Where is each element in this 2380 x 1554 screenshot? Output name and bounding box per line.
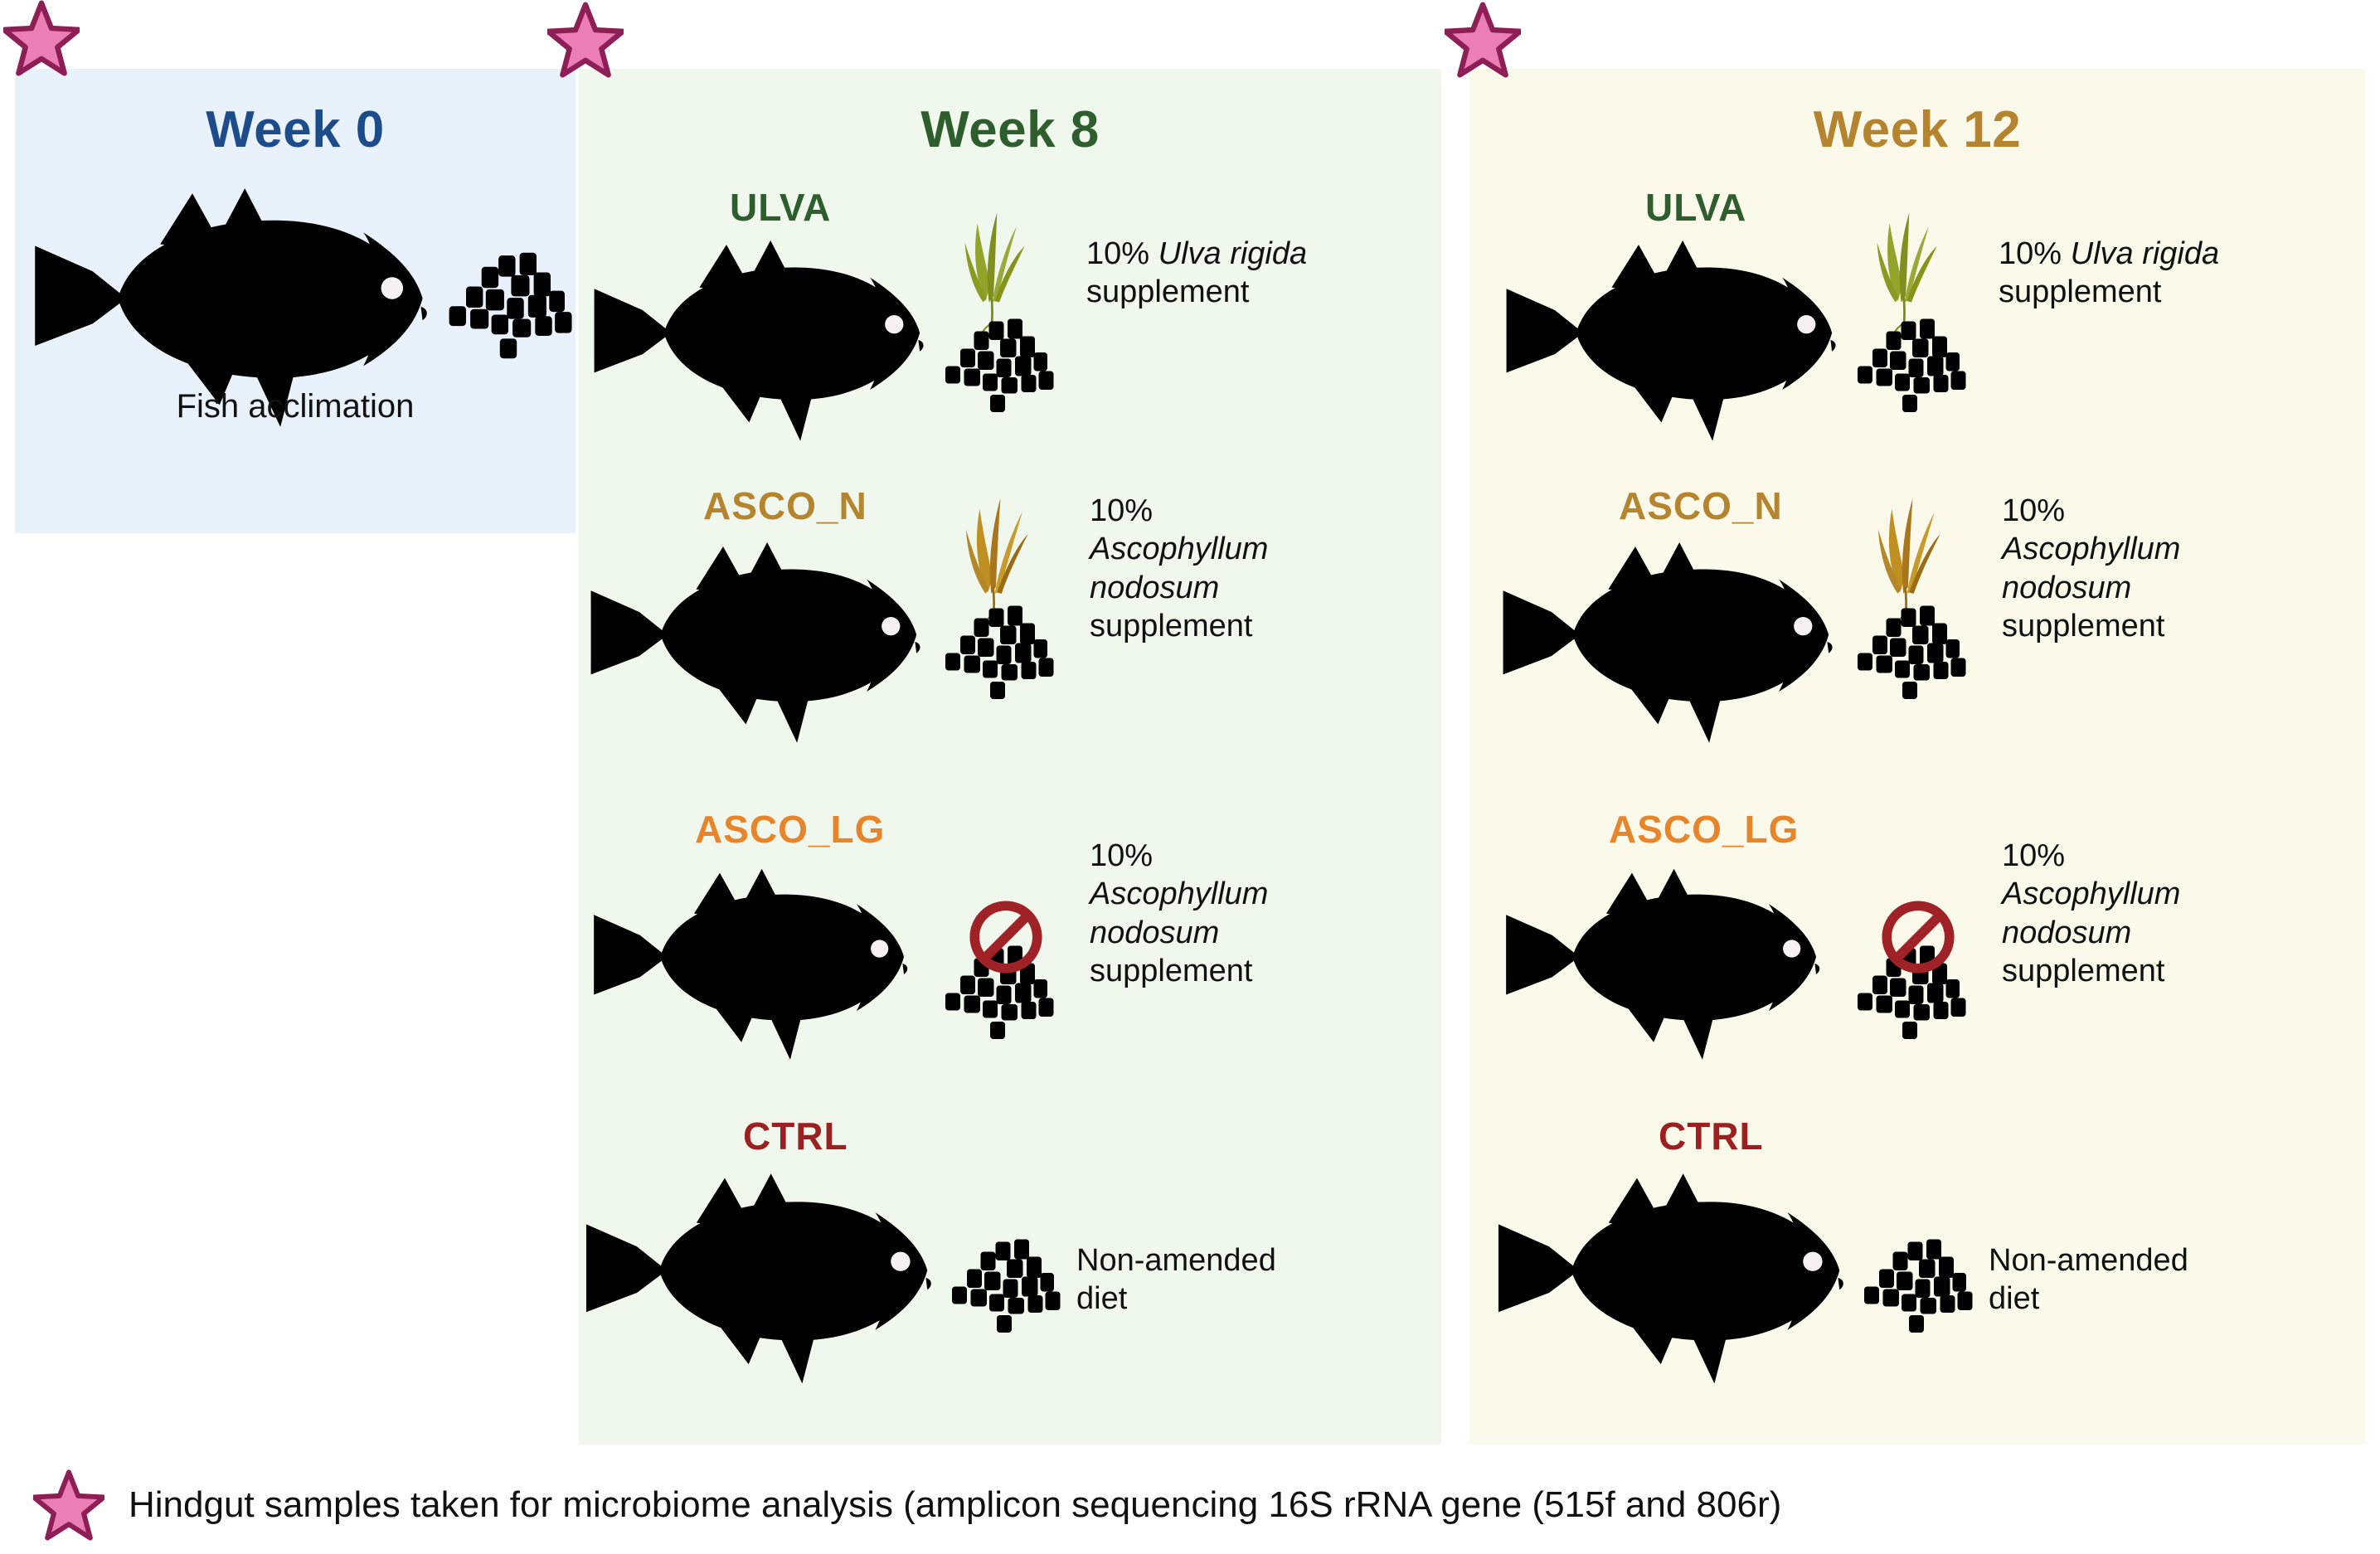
no-entry-icon: [969, 900, 1043, 974]
no-entry-icon-w12: [1881, 900, 1955, 974]
fish-illustration-asco-n: [584, 533, 932, 750]
panel-week-8: Week 8 ULVA 10% Ulva rigidasupplement AS…: [579, 69, 1441, 1445]
panel-week-12: Week 12 ULVA 10% Ulva rigidasupplement A…: [1469, 69, 2365, 1445]
group-label-ctrl: CTRL: [743, 1114, 848, 1158]
fish-illustration-asco-lg: [587, 860, 919, 1067]
treatment-group-ulva-w12: ULVA 10% Ulva rigidasupplement: [1469, 185, 2365, 517]
group-label-ulva: ULVA: [730, 185, 831, 230]
panel-title-week-0: Week 0: [15, 100, 576, 159]
week-0-caption: Fish acclimation: [15, 388, 576, 425]
group-description-asco-n-w12: 10%Ascophyllumnodosumsupplement: [2002, 492, 2300, 645]
treatment-group-asco-lg: ASCO_LG 10%Ascophyllumnodosumsupplement: [579, 807, 1441, 1139]
group-label-asco-lg: ASCO_LG: [695, 807, 885, 852]
fish-illustration-ulva: [587, 231, 935, 449]
treatment-group-ulva: ULVA 10% Ulva rigidasupplement: [579, 185, 1441, 517]
group-description-asco-lg: 10%Ascophyllumnodosumsupplement: [1090, 837, 1388, 990]
group-description-asco-n: 10%Ascophyllumnodosumsupplement: [1090, 492, 1388, 645]
treatment-group-asco-n: ASCO_N 10%Ascophyllumnodosumsupplement: [579, 483, 1441, 815]
panel-title-week-12: Week 12: [1469, 100, 2365, 159]
star-icon-footer: [33, 1469, 104, 1541]
group-label-asco-lg-w12: ASCO_LG: [1609, 807, 1799, 852]
feed-pellets-asco-n-w12: [1848, 605, 1972, 704]
group-label-asco-n-w12: ASCO_N: [1619, 483, 1783, 528]
star-icon-week8: [547, 2, 624, 78]
treatment-group-ctrl: CTRL Non-amendeddiet: [579, 1114, 1441, 1445]
group-label-ctrl-w12: CTRL: [1659, 1114, 1764, 1158]
treatment-group-ctrl-w12: CTRL Non-amendeddiet: [1469, 1114, 2365, 1445]
treatment-group-asco-n-w12: ASCO_N 10%Ascophyllumnodosumsupplement: [1469, 483, 2365, 815]
feed-pellets-asco-n: [935, 605, 1060, 704]
feed-pellets-week0: #panel-week0 .pel rect{fill:#8a8b42;stro…: [438, 250, 579, 366]
group-description-ulva-w12: 10% Ulva rigidasupplement: [1999, 235, 2330, 312]
star-icon-week0: [3, 0, 80, 76]
group-label-asco-n: ASCO_N: [703, 483, 867, 528]
panel-title-week-8: Week 8: [579, 100, 1441, 159]
treatment-group-asco-lg-w12: ASCO_LG 10%Ascophyllumnodosumsupplement: [1469, 807, 2365, 1139]
group-description-ctrl: Non-amendeddiet: [1076, 1241, 1375, 1318]
fish-illustration-ctrl: [579, 1165, 944, 1391]
fish-illustration-ulva-w12: [1499, 231, 1848, 449]
fish-illustration-asco-lg-w12: [1499, 860, 1831, 1067]
star-icon-week12: [1445, 2, 1521, 78]
group-label-ulva-w12: ULVA: [1645, 185, 1746, 230]
group-description-ctrl-w12: Non-amendeddiet: [1989, 1241, 2287, 1318]
footer-caption: Hindgut samples taken for microbiome ana…: [129, 1484, 1781, 1526]
panel-week-0: Week 0 #panel-week0 .f-base{fill:#8fa6d8…: [15, 69, 576, 533]
fish-illustration-asco-n-w12: [1496, 533, 1844, 750]
group-description-asco-lg-w12: 10%Ascophyllumnodosumsupplement: [2002, 837, 2300, 990]
feed-pellets-ulva: [935, 318, 1060, 417]
feed-pellets-ulva-w12: [1848, 318, 1972, 417]
feed-pellets-ctrl-w12: [1854, 1238, 1979, 1338]
group-description-ulva: 10% Ulva rigidasupplement: [1086, 235, 1401, 312]
fish-illustration-ctrl-w12: [1491, 1165, 1856, 1391]
feed-pellets-ctrl: [942, 1238, 1066, 1338]
